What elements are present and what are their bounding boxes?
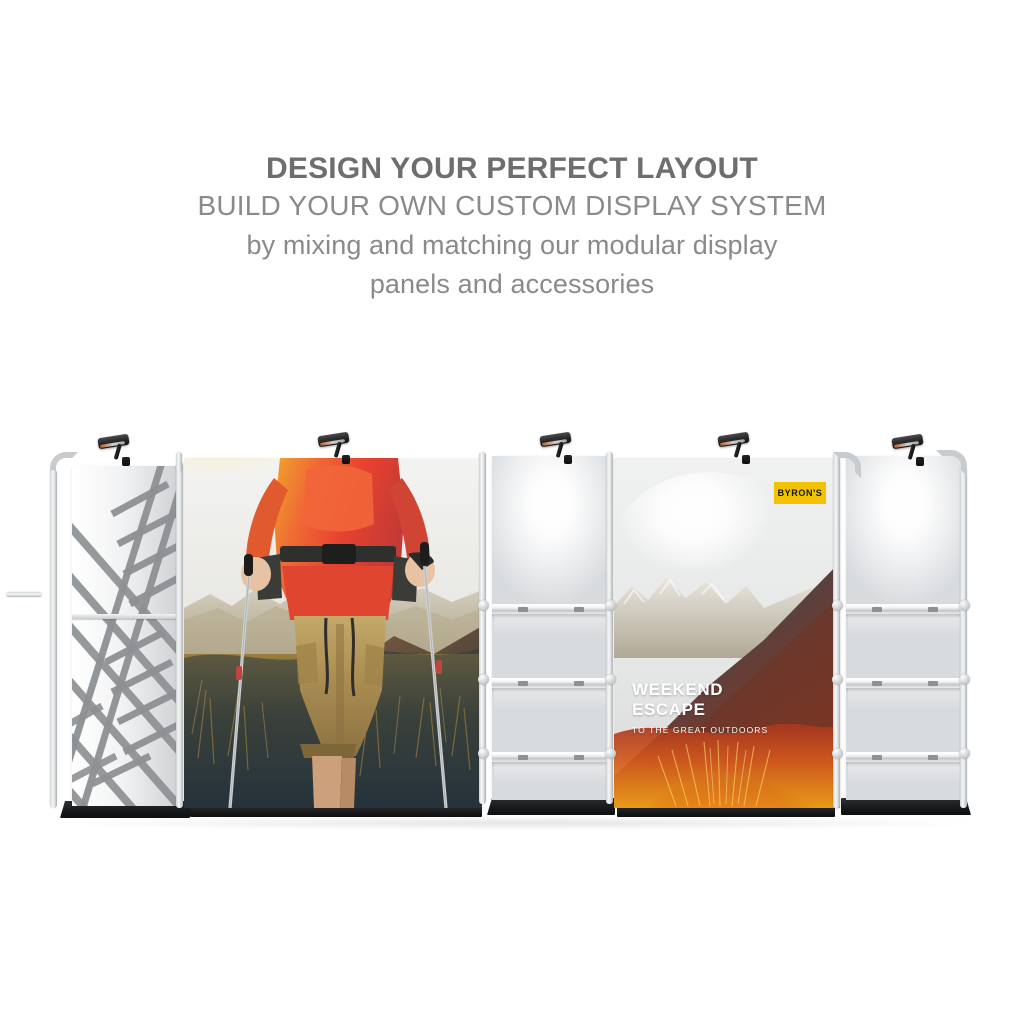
display-lamp-2[interactable] xyxy=(318,434,360,468)
lamp-clamp xyxy=(742,455,750,464)
display-lamp-3[interactable] xyxy=(540,434,582,468)
graphic-headline-line-2: ESCAPE xyxy=(632,700,768,720)
shelf-clip xyxy=(832,748,843,759)
shelf-clip xyxy=(959,600,970,611)
shelf-clip xyxy=(832,674,843,685)
shelf-clip xyxy=(605,748,616,759)
base-plinth-shelf-right xyxy=(841,798,971,815)
panel-connector-bar xyxy=(72,614,182,619)
shelf-1[interactable] xyxy=(846,604,964,614)
lamp-clamp xyxy=(916,457,924,466)
floor-shadow xyxy=(55,816,985,830)
shelf-3[interactable] xyxy=(492,752,610,762)
display-lamp-5[interactable] xyxy=(892,436,934,470)
shelf-clip xyxy=(959,674,970,685)
panel-hiker[interactable] xyxy=(184,458,482,808)
shelf-clip xyxy=(478,600,489,611)
modular-display-stand: BYRON'S WEEKEND ESCAPE TO THE GREAT OUTD… xyxy=(0,0,1024,1024)
shelf-clip xyxy=(605,674,616,685)
shelf-2[interactable] xyxy=(492,678,610,688)
geometric-pattern-svg xyxy=(72,466,182,806)
shelf-panel-backdrop xyxy=(846,456,964,800)
weekend-escape-text-block: WEEKEND ESCAPE TO THE GREAT OUTDOORS xyxy=(632,680,768,735)
shelf-3[interactable] xyxy=(846,752,964,762)
display-stand-page: DESIGN YOUR PERFECT LAYOUT BUILD YOUR OW… xyxy=(0,0,1024,1024)
frame-post-2-top xyxy=(176,452,182,472)
frame-post-1 xyxy=(50,470,57,808)
hiker-photo-graphic xyxy=(184,458,482,808)
brand-name: BYRON'S xyxy=(778,488,823,498)
display-lamp-4[interactable] xyxy=(718,434,760,468)
shelf-clip xyxy=(959,748,970,759)
shelf-panel-backdrop xyxy=(492,456,610,800)
lamp-clamp xyxy=(342,455,350,464)
frame-cap-right xyxy=(936,450,967,476)
weekend-escape-graphic xyxy=(614,458,840,808)
shelf-clip xyxy=(478,674,489,685)
graphic-subhead: TO THE GREAT OUTDOORS xyxy=(632,725,768,735)
geometric-pattern-graphic xyxy=(72,466,182,806)
shelf-1[interactable] xyxy=(492,604,610,614)
display-lamp-1[interactable] xyxy=(98,436,140,470)
lamp-clamp xyxy=(564,455,572,464)
brand-chip: BYRON'S xyxy=(774,482,826,504)
graphic-headline-line-1: WEEKEND xyxy=(632,680,768,700)
shelf-clip xyxy=(478,748,489,759)
panel-shelf-right[interactable] xyxy=(846,456,964,800)
shelf-clip xyxy=(832,600,843,611)
shelf-clip xyxy=(605,600,616,611)
shelf-2[interactable] xyxy=(846,678,964,688)
frame-post-2 xyxy=(176,462,183,808)
frame-side-connector xyxy=(6,592,42,597)
panel-shelf-left[interactable] xyxy=(492,456,610,800)
panel-geometric[interactable] xyxy=(72,466,182,806)
lamp-clamp xyxy=(122,457,130,466)
panel-weekend[interactable]: BYRON'S WEEKEND ESCAPE TO THE GREAT OUTD… xyxy=(614,458,840,808)
base-plinth-shelf-left xyxy=(487,798,615,815)
